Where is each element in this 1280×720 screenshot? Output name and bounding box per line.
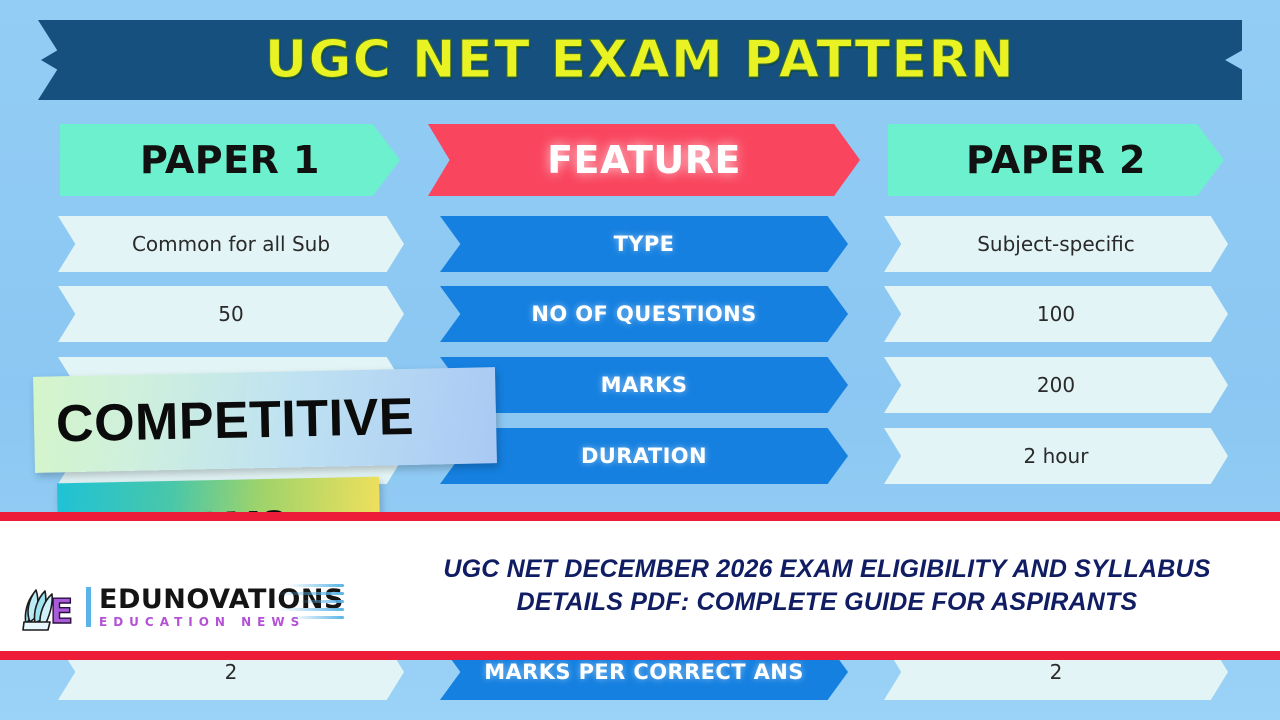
infographic-title-banner: UGC NET EXAM PATTERN [38, 20, 1242, 100]
category-badge-competitive: COMPETITIVE [33, 367, 497, 473]
infographic-title: UGC NET EXAM PATTERN [265, 30, 1015, 90]
column-header-paper2-label: PAPER 2 [966, 138, 1146, 182]
table-row: Common for all Sub TYPE Subject-specific [0, 216, 1280, 272]
cell-feature: TYPE [440, 216, 848, 272]
column-header-feature: FEATURE [428, 124, 860, 196]
cell-paper1: Common for all Sub [58, 216, 404, 272]
article-headline: UGC NET DECEMBER 2026 EXAM ELIGIBILITY A… [398, 524, 1256, 648]
cell-paper2: 200 [884, 357, 1228, 413]
logo-name: EDUNOVATIONS [99, 586, 344, 613]
cell-paper2: 2 hour [884, 428, 1228, 484]
site-logo[interactable]: E EDUNOVATIONS EDUCATION NEWS [20, 576, 344, 638]
cell-feature: MARKS [440, 357, 848, 413]
cell-paper1: 50 [58, 286, 404, 342]
logo-mark-icon: E [20, 578, 84, 636]
cell-feature: NO OF QUESTIONS [440, 286, 848, 342]
logo-divider [86, 587, 91, 627]
column-header-feature-label: FEATURE [547, 138, 741, 182]
column-header-paper1-label: PAPER 1 [140, 138, 320, 182]
cell-paper2: Subject-specific [884, 216, 1228, 272]
cell-paper2: 100 [884, 286, 1228, 342]
column-header-paper1: PAPER 1 [60, 124, 400, 196]
cell-feature: DURATION [440, 428, 848, 484]
table-row: 50 NO OF QUESTIONS 100 [0, 286, 1280, 342]
category-badge-competitive-label: COMPETITIVE [55, 387, 414, 454]
logo-tagline: EDUCATION NEWS [99, 616, 344, 628]
column-header-paper2: PAPER 2 [888, 124, 1224, 196]
svg-text:E: E [50, 592, 73, 632]
